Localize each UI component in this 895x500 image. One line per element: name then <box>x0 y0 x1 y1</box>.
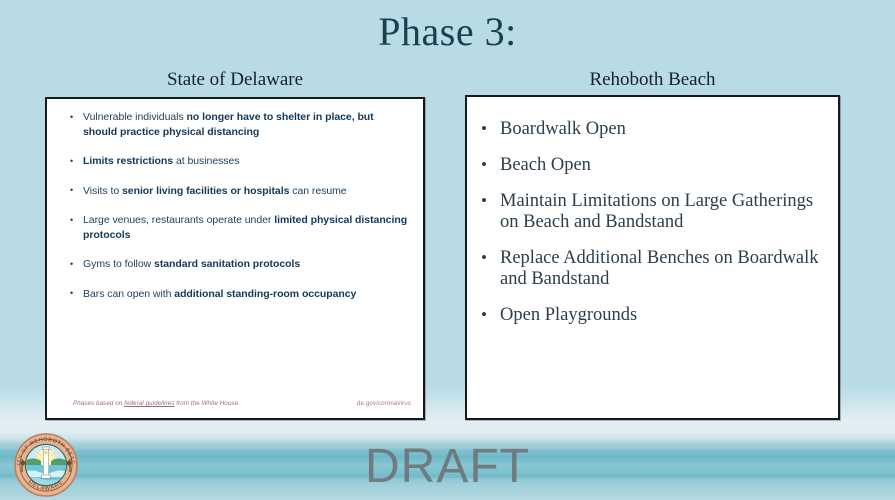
bullet-text: Visits to <box>83 185 122 197</box>
city-bullet-item: Replace Additional Benches on Boardwalk … <box>479 248 824 290</box>
column-heading-city: Rehoboth Beach <box>465 68 840 92</box>
state-bullet-item: Gyms to follow standard sanitation proto… <box>69 257 409 272</box>
slide-title: Phase 3: <box>0 10 895 54</box>
city-bullet-item: Boardwalk Open <box>479 119 824 140</box>
bullet-emphasis: standard sanitation protocols <box>154 258 300 270</box>
city-bullet-item: Maintain Limitations on Large Gatherings… <box>479 191 824 233</box>
column-heading-state: State of Delaware <box>45 68 425 92</box>
footer-note-prefix: Phases based on <box>73 400 124 407</box>
panel-footer: Phases based on federal guidelines from … <box>73 399 413 411</box>
rehoboth-beach-panel: Boardwalk OpenBeach OpenMaintain Limitat… <box>465 95 840 420</box>
state-bullet-item: Limits restrictions at businesses <box>69 154 409 169</box>
bullet-text: Vulnerable individuals <box>83 111 187 123</box>
state-of-delaware-panel: Vulnerable individuals no longer have to… <box>45 97 425 420</box>
state-guidelines-list: Vulnerable individuals no longer have to… <box>69 110 409 316</box>
bullet-text: Gyms to follow <box>83 258 154 270</box>
presentation-slide: Phase 3: State of Delaware Rehoboth Beac… <box>0 0 895 500</box>
state-bullet-item: Large venues, restaurants operate under … <box>69 213 409 242</box>
bullet-emphasis: additional standing-room occupancy <box>174 288 356 300</box>
bullet-text: can resume <box>289 185 346 197</box>
bullet-text: Large venues, restaurants operate under <box>83 214 274 226</box>
footer-note-suffix: from the White House. <box>174 400 239 407</box>
bullet-text: at businesses <box>173 155 239 167</box>
city-bullet-item: Beach Open <box>479 155 824 176</box>
bullet-emphasis: senior living facilities or hospitals <box>122 185 289 197</box>
bullet-emphasis: Limits restrictions <box>83 155 173 167</box>
state-bullet-item: Vulnerable individuals no longer have to… <box>69 110 409 139</box>
bullet-text: Bars can open with <box>83 288 174 300</box>
state-bullet-item: Visits to senior living facilities or ho… <box>69 184 409 199</box>
city-bullet-item: Open Playgrounds <box>479 305 824 326</box>
footer-note-link[interactable]: federal guidelines <box>124 400 174 407</box>
city-seal-lighthouse-icon: CITY OF REHOBOTH BEACH DELAWARE <box>8 430 84 499</box>
city-measures-list: Boardwalk OpenBeach OpenMaintain Limitat… <box>479 119 824 341</box>
draft-watermark: DRAFT <box>0 441 895 493</box>
footer-url[interactable]: de.gov/coronavirus <box>357 399 411 408</box>
state-bullet-item: Bars can open with additional standing-r… <box>69 287 409 302</box>
footer-source-note: Phases based on federal guidelines from … <box>73 399 240 408</box>
